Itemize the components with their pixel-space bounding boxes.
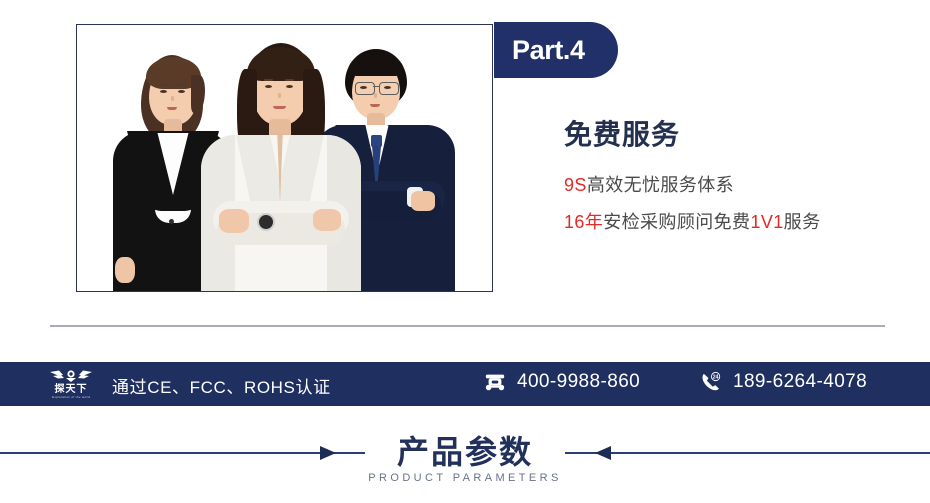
section-headline: 免费服务 bbox=[564, 113, 680, 153]
phone-24h-icon: 24 bbox=[700, 371, 722, 393]
service-point-2-highlight2: 1V1 bbox=[750, 212, 783, 232]
company-logo: 探天下 Exploration of the world bbox=[44, 366, 98, 402]
telephone-icon bbox=[484, 371, 506, 393]
team-photo bbox=[76, 24, 493, 292]
bottom-section-subtitle: PRODUCT PARAMETERS bbox=[0, 472, 930, 484]
phone-hotline-number: 400-9988-860 bbox=[517, 371, 640, 393]
service-point-2: 16年安检采购顾问免费1V1服务 bbox=[564, 208, 820, 234]
promo-page: Part.4 免费服务 9S高效无忧服务体系 16年安检采购顾问免费1V1服务 … bbox=[0, 0, 930, 503]
person-center bbox=[201, 24, 361, 291]
part-number-badge: Part.4 bbox=[494, 22, 618, 78]
phone-mobile[interactable]: 24 189-6264-4078 bbox=[700, 371, 867, 393]
phone-mobile-number: 189-6264-4078 bbox=[733, 371, 867, 393]
logo-english-name: Exploration of the world bbox=[52, 395, 90, 400]
team-photo-stage bbox=[77, 25, 492, 291]
logo-chinese-name: 探天下 bbox=[55, 384, 88, 395]
bottom-section-title: 产品参数 bbox=[0, 427, 930, 473]
service-point-2-tail: 服务 bbox=[784, 212, 821, 232]
service-point-2-mid: 安检采购顾问免费 bbox=[603, 212, 750, 232]
service-point-1-highlight: 9S bbox=[564, 175, 587, 195]
section-divider bbox=[50, 325, 885, 327]
eagle-wings-icon bbox=[48, 369, 94, 383]
svg-text:24: 24 bbox=[713, 375, 719, 381]
certification-text: 通过CE、FCC、ROHS认证 bbox=[112, 373, 331, 398]
service-point-1: 9S高效无忧服务体系 bbox=[564, 171, 734, 197]
phone-hotline[interactable]: 400-9988-860 bbox=[484, 371, 640, 393]
service-point-2-highlight: 16年 bbox=[564, 212, 603, 232]
service-point-1-text: 高效无忧服务体系 bbox=[587, 175, 734, 195]
